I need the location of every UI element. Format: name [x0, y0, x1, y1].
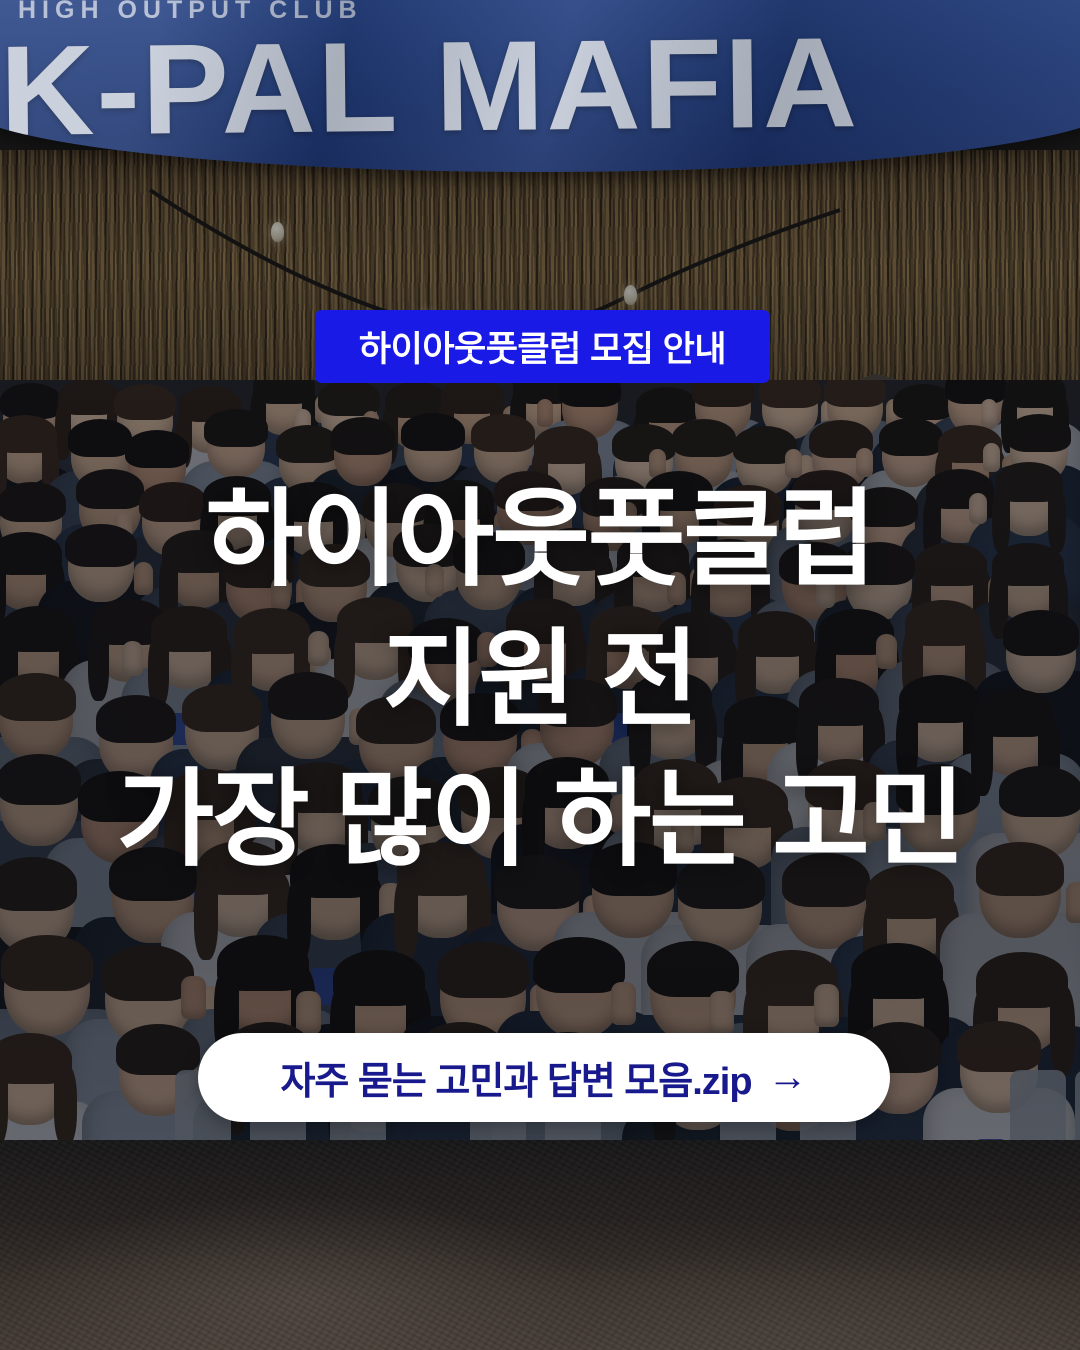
recruitment-badge-label: 하이아웃풋클럽 모집 안내 — [359, 321, 726, 372]
poster-canvas: HIGH OUTPUT CLUB K-PAL MAFIA 하이아웃풋클럽 모집 … — [0, 0, 1080, 1350]
headline-line-1: 하이아웃풋클럽 — [0, 470, 1080, 610]
headline-line-3: 가장 많이 하는 고민 — [0, 750, 1080, 890]
faq-zip-cta-button[interactable]: 자주 묻는 고민과 답변 모음.zip → — [198, 1033, 890, 1122]
arrow-right-icon: → — [768, 1057, 808, 1097]
overlay-content: 하이아웃풋클럽 모집 안내 하이아웃풋클럽 지원 전 가장 많이 하는 고민 자… — [0, 0, 1080, 1350]
headline-line-2: 지원 전 — [0, 610, 1080, 750]
page-title: 하이아웃풋클럽 지원 전 가장 많이 하는 고민 — [0, 470, 1080, 890]
recruitment-badge: 하이아웃풋클럽 모집 안내 — [315, 310, 770, 383]
faq-zip-cta-label: 자주 묻는 고민과 답변 모음.zip — [280, 1050, 751, 1105]
